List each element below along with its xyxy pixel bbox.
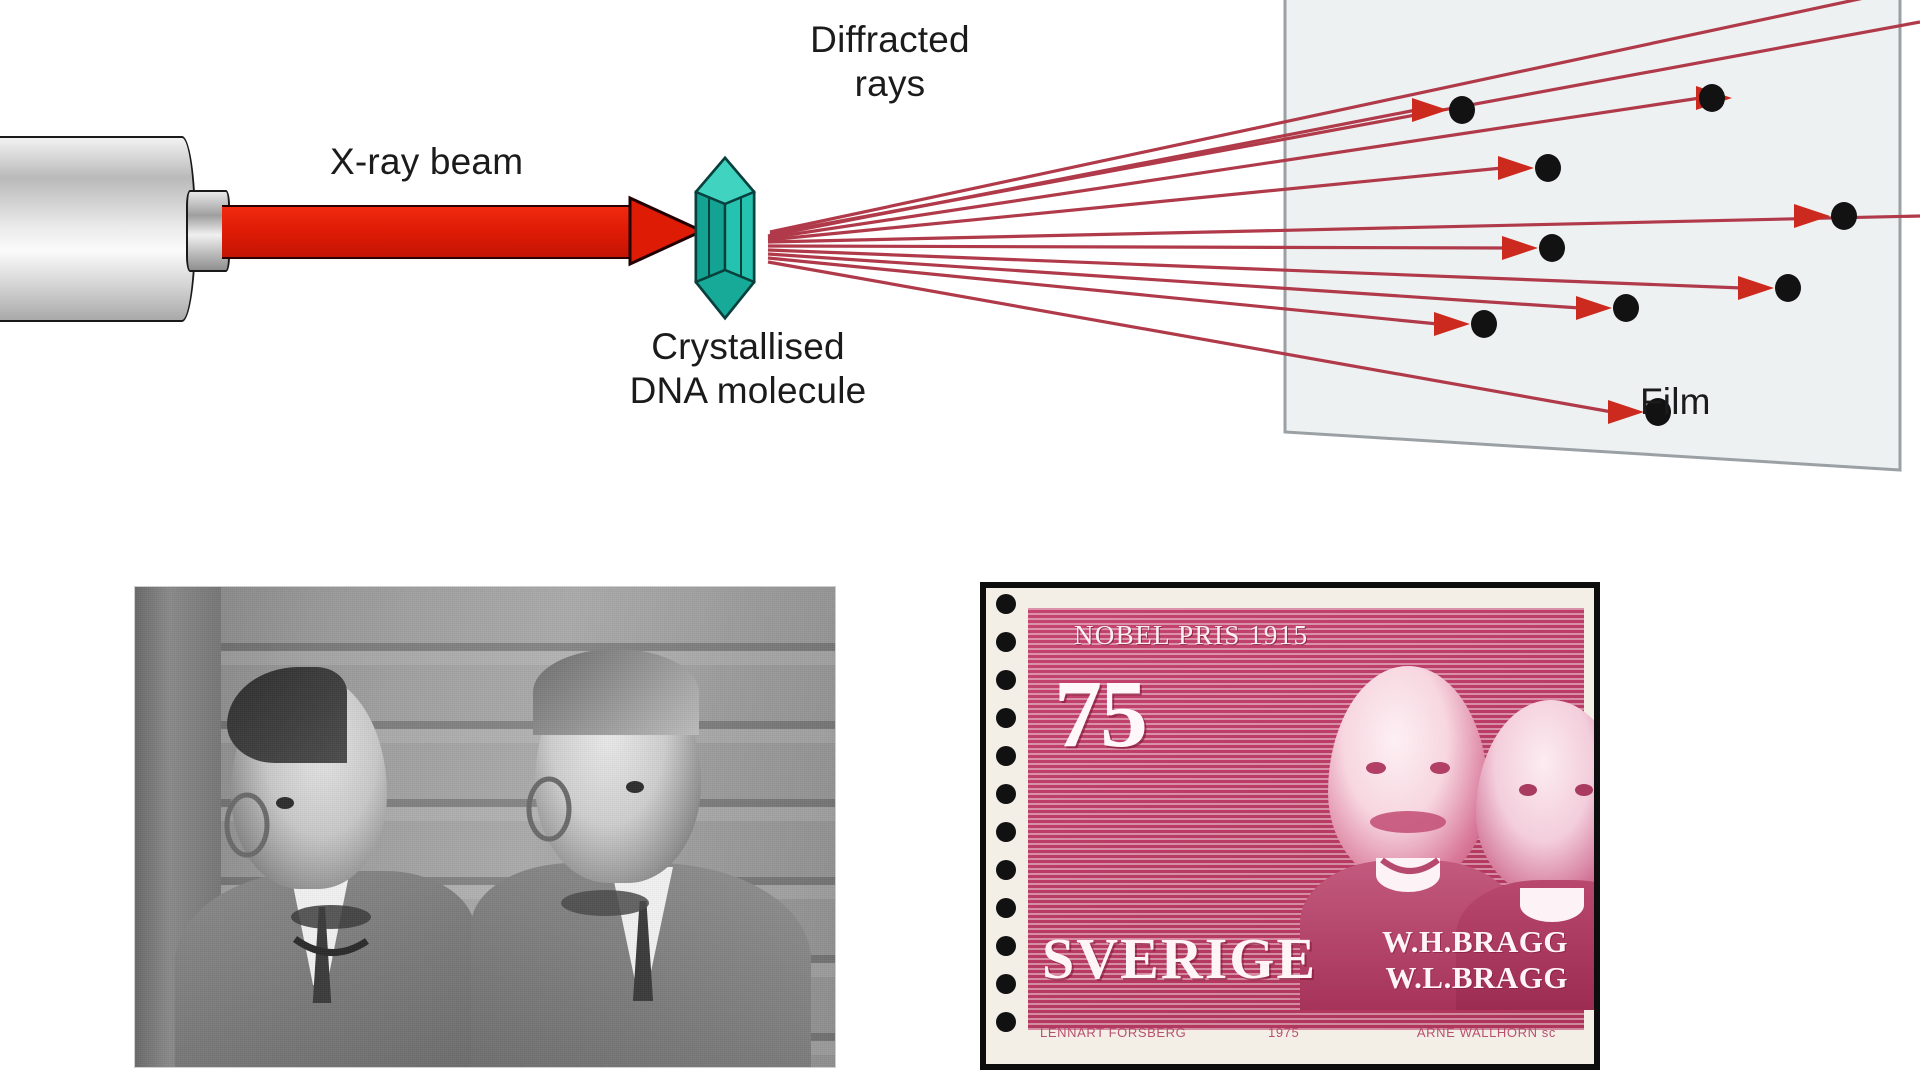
stamp-name-wl-bragg: W.L.BRAGG bbox=[1385, 960, 1568, 996]
stamp-credit-engraver: ARNE WALLHORN sc bbox=[1417, 1025, 1556, 1040]
label-film: Film bbox=[1640, 380, 1711, 424]
stamp-title: NOBEL PRIS 1915 bbox=[1074, 620, 1309, 651]
label-diffracted-rays: Diffracted rays bbox=[785, 18, 995, 105]
stamp-denomination: 75 bbox=[1054, 658, 1146, 769]
stamp-paper: NOBEL PRIS 1915 75 SVERIGE W.H.BRAGG W.L… bbox=[986, 588, 1594, 1064]
bragg-photograph: Photograph of W. H. Bragg and W. L. Brag… bbox=[134, 586, 836, 1068]
stamp-name-wh-bragg: W.H.BRAGG bbox=[1382, 924, 1568, 960]
figure-root: X-ray beam Diffracted rays Crystallised … bbox=[0, 0, 1920, 1080]
sweden-nobel-stamp: NOBEL PRIS 1915 75 SVERIGE W.H.BRAGG W.L… bbox=[980, 582, 1600, 1070]
stamp-credit-designer: LENNART FORSBERG bbox=[1040, 1025, 1186, 1040]
photo-face-details bbox=[135, 587, 835, 1067]
film-plate bbox=[1285, 0, 1900, 470]
stamp-credit-year: 1975 bbox=[1268, 1025, 1299, 1040]
stamp-country-name: SVERIGE bbox=[1042, 925, 1317, 992]
label-crystallised-dna: Crystallised DNA molecule bbox=[613, 325, 883, 412]
xrd-diagram-panel: X-ray beam Diffracted rays Crystallised … bbox=[0, 0, 1920, 470]
label-xray-beam: X-ray beam bbox=[330, 140, 523, 184]
stamp-perforations bbox=[992, 588, 1018, 1064]
